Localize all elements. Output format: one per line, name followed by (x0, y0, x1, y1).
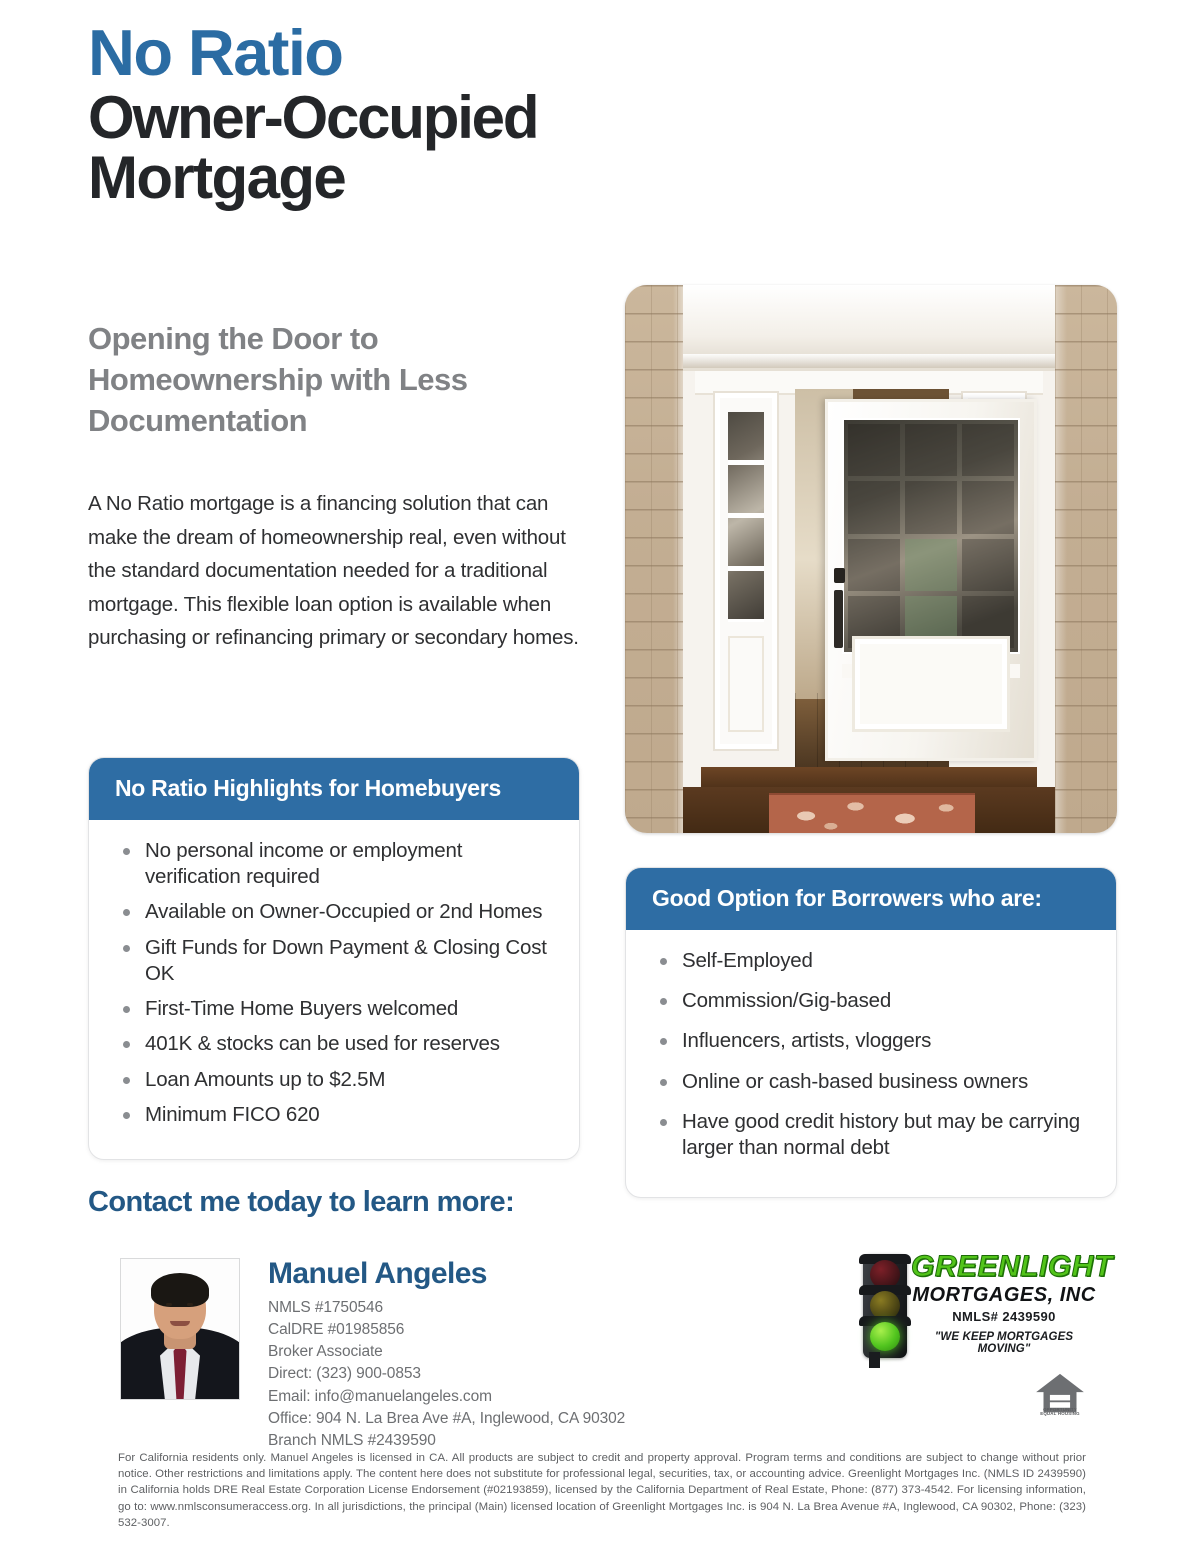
highlights-card-body: No personal income or employment verific… (89, 820, 579, 1159)
traffic-light-green-lamp (870, 1322, 900, 1351)
highlights-card-header: No Ratio Highlights for Homebuyers (89, 758, 579, 820)
agent-nmls: NMLS #1750546 (268, 1297, 688, 1319)
flyer-page: No Ratio Owner-Occupied Mortgage Opening… (0, 0, 1200, 1552)
list-item: Gift Funds for Down Payment & Closing Co… (115, 935, 553, 987)
contact-heading: Contact me today to learn more: (88, 1186, 514, 1219)
intro-paragraph: A No Ratio mortgage is a financing solut… (88, 487, 588, 655)
agent-name: Manuel Angeles (268, 1259, 688, 1289)
agent-email[interactable]: Email: info@manuelangeles.com (268, 1386, 688, 1408)
door-lite (848, 481, 900, 533)
headline-line-1: No Ratio (88, 22, 618, 84)
sidelight-left (715, 393, 777, 749)
door-lower-panel (852, 636, 1010, 732)
door-handle-icon (834, 590, 843, 648)
door-lite (905, 539, 957, 591)
page-title: No Ratio Owner-Occupied Mortgage (88, 22, 618, 208)
list-item: Online or cash-based business owners (652, 1069, 1090, 1095)
door-lite (848, 539, 900, 591)
list-item: Self-Employed (652, 948, 1090, 974)
company-logo: GREENLIGHT MORTGAGES, INC NMLS# 2439590 … (855, 1252, 1095, 1362)
headline-line-2: Owner-Occupied (88, 88, 618, 148)
logo-brand-bottom: MORTGAGES, INC (911, 1284, 1097, 1307)
avatar-hair (151, 1273, 209, 1307)
avatar-eye-right (187, 1303, 193, 1306)
list-item: Minimum FICO 620 (115, 1102, 553, 1128)
sidelight-left-panel (728, 636, 764, 732)
traffic-light-pole (869, 1352, 880, 1368)
door-lock-icon (834, 568, 845, 583)
sidelight-left-glass (728, 412, 764, 622)
list-item: Available on Owner-Occupied or 2nd Homes (115, 899, 553, 925)
door-lite (962, 481, 1014, 533)
borrowers-card-header: Good Option for Borrowers who are: (626, 868, 1116, 930)
list-item: Have good credit history but may be carr… (652, 1109, 1090, 1161)
entry-surround (677, 285, 1061, 833)
list-item: 401K & stocks can be used for reserves (115, 1031, 553, 1057)
borrowers-card: Good Option for Borrowers who are: Self-… (625, 867, 1117, 1198)
porch-floor (677, 787, 1061, 833)
avatar-mouth (170, 1321, 190, 1326)
logo-tagline: "WE KEEP MORTGAGES MOVING" (911, 1331, 1097, 1355)
equal-housing-caption-2: OPPORTUNITY (1032, 1407, 1088, 1413)
agent-caldre: CalDRE #01985856 (268, 1319, 688, 1341)
list-item: No personal income or employment verific… (115, 838, 553, 890)
equal-housing-opportunity-icon: EQUAL HOUSING OPPORTUNITY (1032, 1372, 1088, 1428)
list-item: Commission/Gig-based (652, 988, 1090, 1014)
subheading: Opening the Door to Homeownership with L… (88, 318, 558, 442)
headline-line-3: Mortgage (88, 148, 618, 208)
highlights-card: No Ratio Highlights for Homebuyers No pe… (88, 757, 580, 1160)
agent-phone[interactable]: Direct: (323) 900-0853 (268, 1363, 688, 1385)
shingle-wall-left (625, 285, 683, 833)
agent-details: Manuel Angeles NMLS #1750546 CalDRE #019… (268, 1259, 688, 1452)
list-item: First-Time Home Buyers welcomed (115, 996, 553, 1022)
door-lite (905, 481, 957, 533)
shingle-wall-right (1055, 285, 1117, 833)
borrowers-card-body: Self-Employed Commission/Gig-based Influ… (626, 930, 1116, 1197)
door-lite (905, 424, 957, 476)
front-door-photo (625, 285, 1117, 833)
list-item: Loan Amounts up to $2.5M (115, 1067, 553, 1093)
list-item: Influencers, artists, vloggers (652, 1028, 1090, 1054)
door-lite (962, 539, 1014, 591)
avatar-eye-left (166, 1303, 172, 1306)
logo-wordmark: GREENLIGHT MORTGAGES, INC NMLS# 2439590 … (911, 1252, 1097, 1355)
traffic-light-icon (863, 1254, 907, 1358)
door-lite (848, 424, 900, 476)
agent-title: Broker Associate (268, 1341, 688, 1363)
porch-soffit (677, 285, 1061, 371)
logo-nmls: NMLS# 2439590 (911, 1309, 1097, 1324)
legal-disclaimer: For California residents only. Manuel An… (118, 1450, 1086, 1531)
avatar (120, 1258, 240, 1400)
front-door-slab (825, 399, 1037, 761)
door-threshold (701, 767, 1037, 789)
logo-brand-top: GREENLIGHT (911, 1252, 1097, 1282)
door-lite (962, 424, 1014, 476)
agent-office-address: Office: 904 N. La Brea Ave #A, Inglewood… (268, 1408, 688, 1430)
agent-branch-nmls: Branch NMLS #2439590 (268, 1430, 688, 1452)
highlights-list: No personal income or employment verific… (115, 838, 553, 1128)
front-door-photo-image (625, 285, 1117, 833)
entry-rug (769, 793, 975, 833)
borrowers-list: Self-Employed Commission/Gig-based Influ… (652, 948, 1090, 1161)
door-glass-grid (842, 418, 1020, 654)
